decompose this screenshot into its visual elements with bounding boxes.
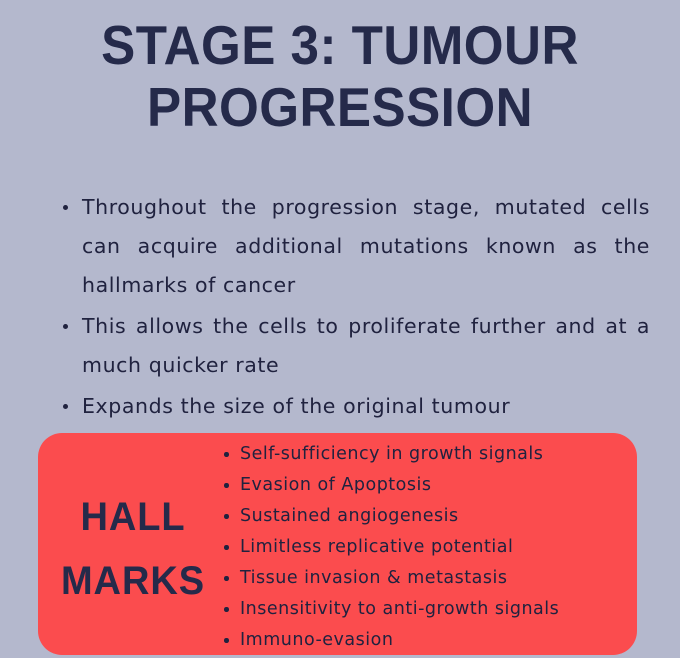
bullet-icon — [63, 324, 68, 329]
hallmarks-label-line-1: HALL — [43, 485, 224, 549]
bullet-icon — [224, 514, 229, 519]
list-item-text: Throughout the progression stage, mutate… — [82, 188, 650, 305]
list-item-text: Sustained angiogenesis — [240, 506, 459, 526]
page-title-line-2: PROGRESSION — [24, 76, 656, 138]
main-bullet-list: Throughout the progression stage, mutate… — [60, 188, 650, 428]
list-item: Insensitivity to anti-growth signals — [222, 594, 632, 625]
list-item: Tissue invasion & metastasis — [222, 563, 632, 594]
hallmarks-label-line-2: MARKS — [43, 549, 224, 613]
page-title: STAGE 3: TUMOUR PROGRESSION — [0, 14, 680, 138]
list-item-text: This allows the cells to proliferate fur… — [82, 307, 650, 385]
hallmarks-panel: HALL MARKS Self-sufficiency in growth si… — [38, 433, 637, 655]
bullet-icon — [63, 404, 68, 409]
list-item: Throughout the progression stage, mutate… — [60, 188, 650, 305]
bullet-icon — [224, 545, 229, 550]
list-item-text: Insensitivity to anti-growth signals — [240, 599, 559, 619]
list-item: Self-sufficiency in growth signals — [222, 439, 632, 470]
bullet-icon — [224, 638, 229, 643]
poster-slide: STAGE 3: TUMOUR PROGRESSION Throughout t… — [0, 0, 680, 658]
list-item-text: Immuno-evasion — [240, 630, 393, 650]
bullet-icon — [224, 607, 229, 612]
bullet-icon — [224, 576, 229, 581]
list-item-text: Expands the size of the original tumour — [82, 387, 650, 426]
bullet-icon — [63, 205, 68, 210]
list-item: Expands the size of the original tumour — [60, 387, 650, 426]
page-title-line-1: STAGE 3: TUMOUR — [24, 14, 656, 76]
list-item: Sustained angiogenesis — [222, 501, 632, 532]
list-item: Evasion of Apoptosis — [222, 470, 632, 501]
list-item: Immuno-evasion — [222, 625, 632, 655]
hallmarks-list: Self-sufficiency in growth signals Evasi… — [222, 439, 632, 655]
list-item-text: Self-sufficiency in growth signals — [240, 444, 543, 464]
bullet-icon — [224, 483, 229, 488]
list-item: Limitless replicative potential — [222, 532, 632, 563]
list-item-text: Evasion of Apoptosis — [240, 475, 431, 495]
bullet-icon — [224, 452, 229, 457]
list-item-text: Tissue invasion & metastasis — [240, 568, 507, 588]
hallmarks-panel-label: HALL MARKS — [43, 485, 224, 613]
list-item: This allows the cells to proliferate fur… — [60, 307, 650, 385]
list-item-text: Limitless replicative potential — [240, 537, 513, 557]
